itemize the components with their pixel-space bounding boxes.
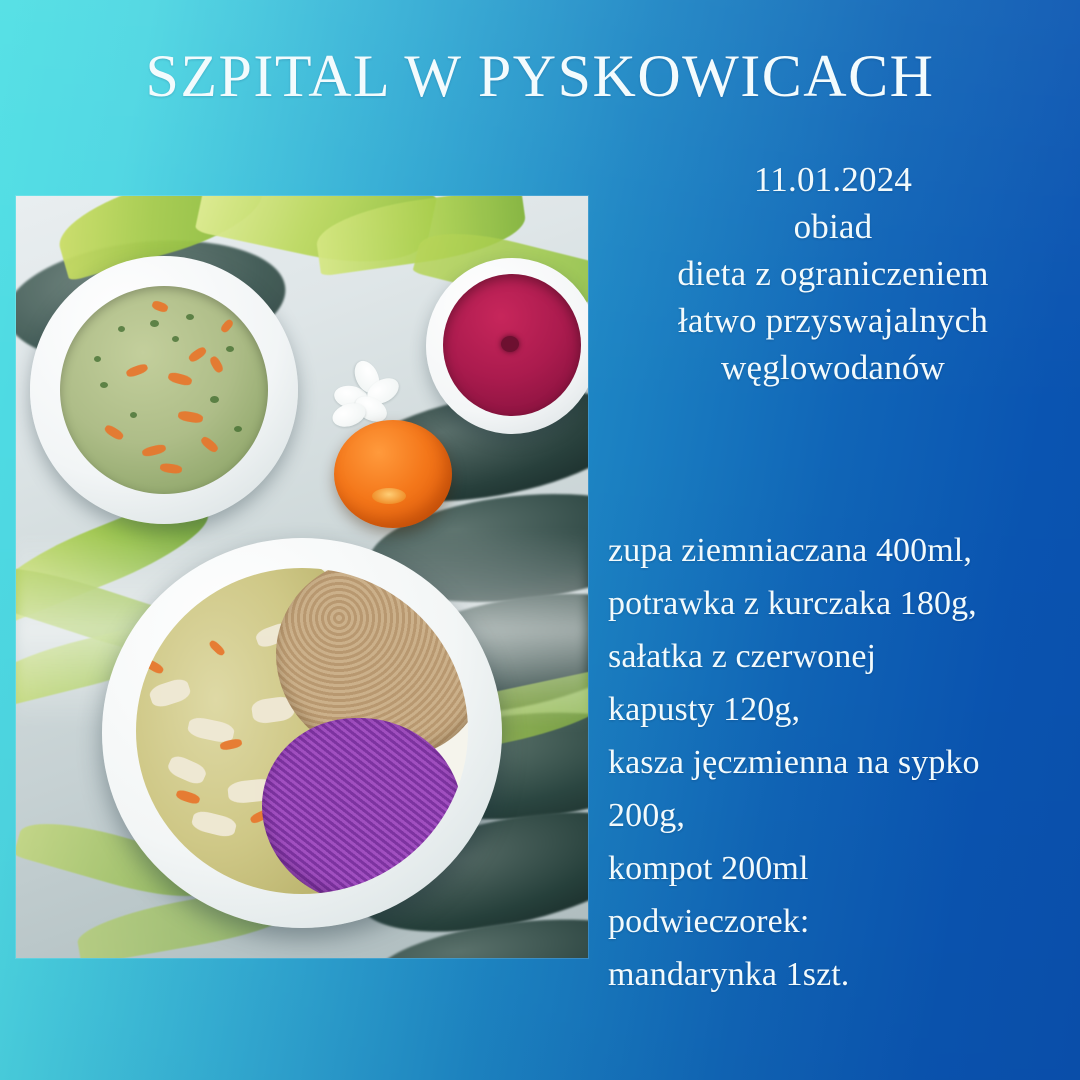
diet-line-1: dieta z ograniczeniem [598, 250, 1068, 297]
menu-line: podwieczorek: [608, 895, 1078, 948]
mandarin-orange [334, 420, 452, 528]
menu-line: kompot 200ml [608, 842, 1078, 895]
plate-contents [136, 568, 468, 894]
compote-cup [426, 258, 588, 434]
meal-type: obiad [598, 203, 1068, 250]
meal-poster: SZPITAL W PYSKOWICACH [0, 0, 1080, 1080]
soup-surface [60, 286, 268, 494]
meal-photo-canvas [16, 196, 588, 958]
meal-header: 11.01.2024 obiad dieta z ograniczeniem ł… [598, 156, 1068, 391]
menu-line: 200g, [608, 789, 1078, 842]
menu-line: kasza jęczmienna na sypko [608, 736, 1078, 789]
meal-date: 11.01.2024 [598, 156, 1068, 203]
meal-photo [16, 196, 588, 958]
menu-line: potrawka z kurczaka 180g, [608, 577, 1078, 630]
menu-line: kapusty 120g, [608, 683, 1078, 736]
soup-bowl [30, 256, 298, 524]
menu-list: zupa ziemniaczana 400ml, potrawka z kurc… [608, 524, 1078, 1001]
compote-liquid [443, 274, 581, 416]
diet-line-3: węglowodanów [598, 344, 1068, 391]
compote-reflection [501, 336, 519, 352]
dinner-plate [102, 538, 502, 928]
menu-line: mandarynka 1szt. [608, 948, 1078, 1001]
menu-line: sałatka z czerwonej [608, 630, 1078, 683]
menu-line: zupa ziemniaczana 400ml, [608, 524, 1078, 577]
diet-line-2: łatwo przyswajalnych [598, 297, 1068, 344]
orange-navel [372, 488, 406, 504]
info-column: 11.01.2024 obiad dieta z ograniczeniem ł… [598, 0, 1068, 1080]
